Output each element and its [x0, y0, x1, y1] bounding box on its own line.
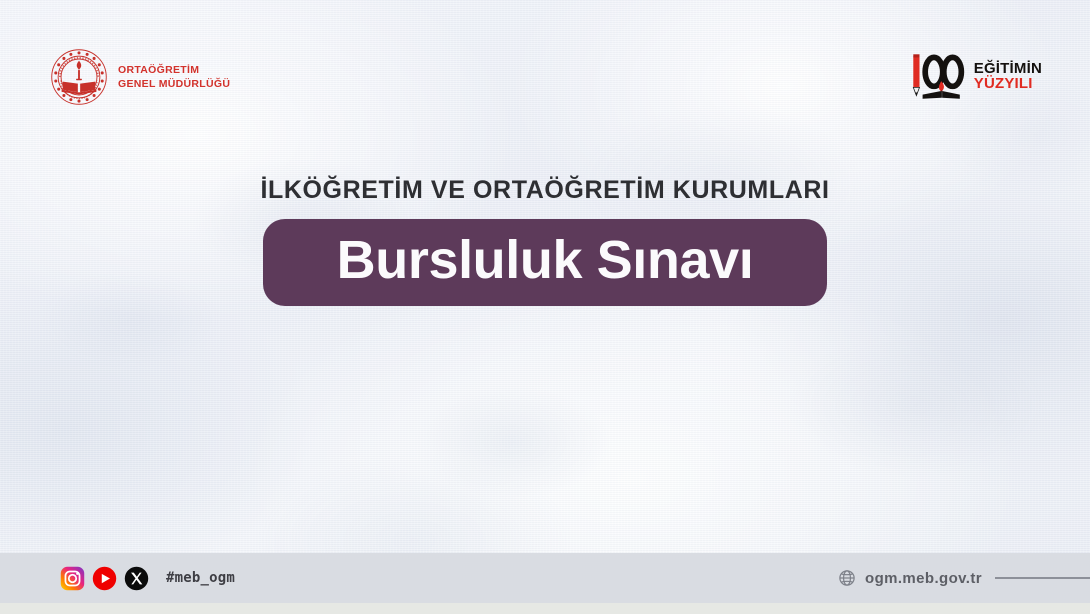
website-rule — [995, 577, 1090, 579]
page-subtitle: İLKÖĞRETİM VE ORTAÖĞRETİM KURUMLARI — [0, 176, 1090, 205]
ministry-logo-line2: GENEL MÜDÜRLÜĞÜ — [118, 78, 230, 90]
social-handle: #meb_ogm — [166, 570, 235, 586]
title-pill: Bursluluk Sınavı — [263, 219, 827, 306]
meb-seal-emblem — [50, 48, 108, 106]
title-block: İLKÖĞRETİM VE ORTAÖĞRETİM KURUMLARI Burs… — [0, 176, 1090, 306]
page-title: Bursluluk Sınavı — [309, 233, 781, 288]
pen-icon — [913, 54, 919, 95]
centenary-100-mark — [904, 50, 966, 102]
website-url: ogm.meb.gov.tr — [865, 570, 982, 587]
instagram-icon[interactable] — [60, 566, 85, 591]
x-twitter-icon[interactable] — [124, 566, 149, 591]
globe-icon — [838, 569, 856, 587]
centenary-logo-text: EĞİTİMİN YÜZYILI — [974, 61, 1042, 92]
centenary-logo: EĞİTİMİN YÜZYILI — [904, 50, 1042, 102]
social-links: #meb_ogm — [60, 566, 235, 591]
ministry-logo-text: ORTAÖĞRETİM GENEL MÜDÜRLÜĞÜ — [118, 63, 230, 91]
centenary-line1: EĞİTİMİN — [974, 61, 1042, 76]
footer-bottom-strip — [0, 603, 1090, 614]
youtube-icon[interactable] — [92, 566, 117, 591]
ministry-logo-line1: ORTAÖĞRETİM — [118, 64, 199, 76]
poster-canvas: ORTAÖĞRETİM GENEL MÜDÜRLÜĞÜ — [0, 0, 1090, 614]
ministry-logo: ORTAÖĞRETİM GENEL MÜDÜRLÜĞÜ — [50, 48, 230, 106]
website-link[interactable]: ogm.meb.gov.tr — [838, 569, 1090, 587]
centenary-line2: YÜZYILI — [974, 76, 1042, 91]
footer-bar: #meb_ogm ogm.meb.gov.tr — [0, 553, 1090, 603]
